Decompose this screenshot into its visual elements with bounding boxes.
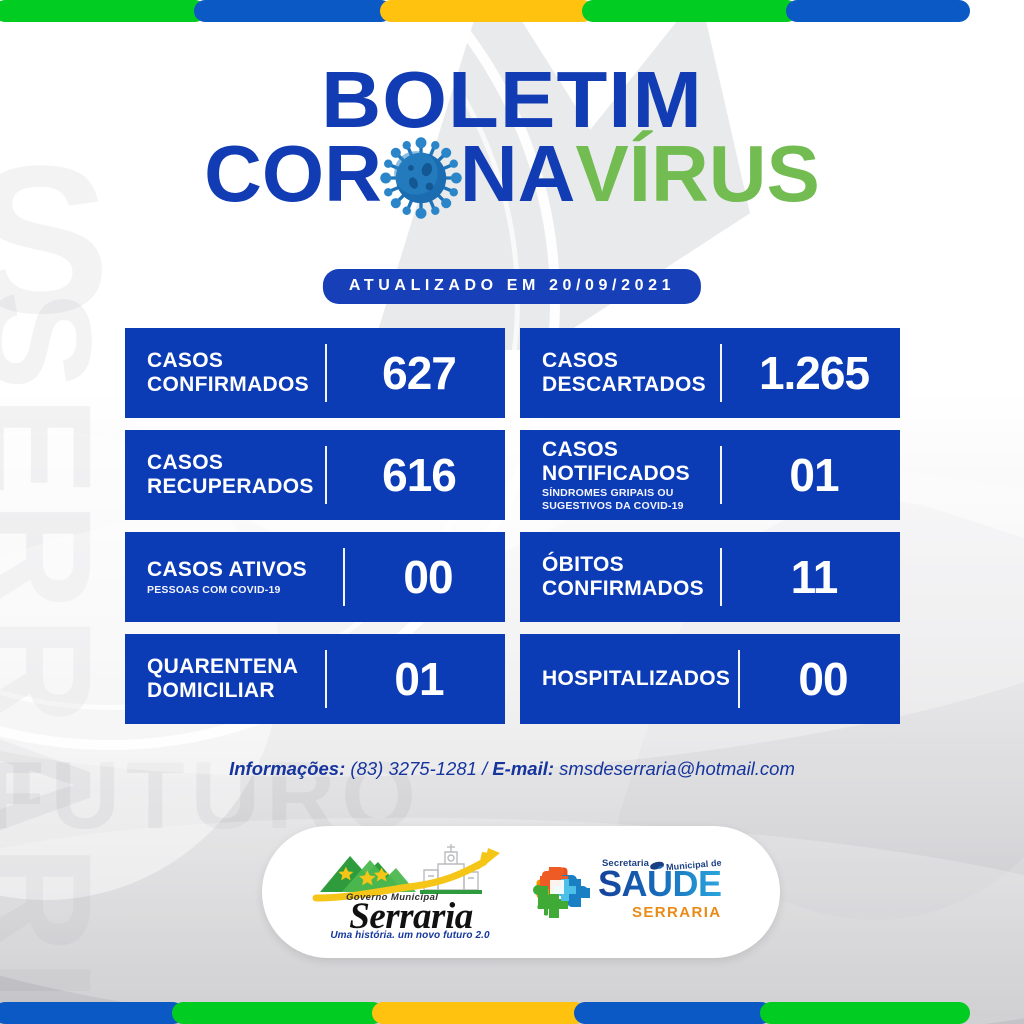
segment-yellow [372,1002,586,1024]
stat-label-line2: CONFIRMADOS [147,373,309,396]
stat-divider [720,548,722,606]
stat-divider [720,446,722,504]
contact-info-label: Informações: [229,758,345,779]
segment-blue-1 [194,0,392,22]
stats-grid: CASOSCONFIRMADOS627CASOSDESCARTADOS1.265… [125,328,900,724]
stat-label-line2: CONFIRMADOS [542,577,704,600]
segment-blue-2 [786,0,970,22]
stat-card-quarentena-domiciliar: QUARENTENADOMICILIAR01 [125,634,505,724]
stat-value: 00 [746,656,900,702]
stat-label: ÓBITOSCONFIRMADOS [542,553,720,600]
saude-city-label: SERRARIA [632,904,722,921]
contact-email[interactable]: smsdeserraria@hotmail.com [559,758,795,779]
stat-card-casos-descartados: CASOSDESCARTADOS1.265 [520,328,900,418]
segment-green-2 [760,1002,970,1024]
stat-label: CASOSRECUPERADOS [147,451,325,498]
segment-blue-1 [0,1002,184,1024]
top-color-bar [0,0,1024,22]
title-line-coronavirus: COR [0,132,1024,216]
bottom-color-bar [0,1002,1024,1024]
title-cor: COR [204,134,382,214]
footer-logo-plate: Governo Municipal Serraria Uma história.… [262,826,780,958]
segment-green-2 [582,0,798,22]
stat-label: QUARENTENADOMICILIAR [147,655,325,702]
serraria-tagline: Uma história. um novo futuro 2.0 [312,930,508,941]
health-cross-icon [530,861,592,923]
segment-green-1 [0,0,206,22]
stat-divider [738,650,740,708]
stat-sublabel: PESSOAS COM COVID-19 [147,584,343,596]
stat-card-hospitalizados: HOSPITALIZADOS00 [520,634,900,724]
serraria-mountains-church-logo: Governo Municipal Serraria Uma história.… [312,840,508,944]
coronavirus-icon [379,136,463,220]
stat-divider [325,650,327,708]
stat-label-line1: CASOS [542,438,618,461]
contact-separator: / [482,758,487,779]
stat-sublabel: SÍNDROMES GRIPAIS OUSUGESTIVOS DA COVID-… [542,487,720,512]
stat-value: 1.265 [728,350,900,396]
title-line-boletim: BOLETIM [0,62,1024,138]
stat-card-casos-ativos: CASOS ATIVOSPESSOAS COM COVID-1900 [125,532,505,622]
stat-value: 01 [728,452,900,498]
stat-label-line1: HOSPITALIZADOS [542,667,730,690]
stat-label-line2: NOTIFICADOS [542,462,690,485]
contact-phone[interactable]: (83) 3275-1281 [350,758,477,779]
stat-label-line1: CASOS [147,349,223,372]
bulletin-page: S SERRARIA FUTURO BOLETIM COR [0,0,1024,1024]
contact-email-label: E-mail: [492,758,554,779]
segment-blue-2 [574,1002,772,1024]
stat-value: 616 [333,452,505,498]
stat-card-casos-confirmados: CASOSCONFIRMADOS627 [125,328,505,418]
segment-green-1 [172,1002,384,1024]
stat-value: 11 [728,554,900,600]
page-title: BOLETIM COR [0,62,1024,216]
stat-label: HOSPITALIZADOS [542,667,738,691]
stat-label-line1: ÓBITOS [542,553,624,576]
stat-label-line1: QUARENTENA [147,655,298,678]
stat-label-line1: CASOS [147,451,223,474]
stat-value: 627 [333,350,505,396]
stat-label: CASOSNOTIFICADOSSÍNDROMES GRIPAIS OUSUGE… [542,438,720,512]
watermark-serraria-text: SERRARIA [0,290,103,1024]
stat-card-casos-notificados: CASOSNOTIFICADOSSÍNDROMES GRIPAIS OUSUGE… [520,430,900,520]
title-na: NA [460,134,576,214]
stat-label: CASOSDESCARTADOS [542,349,720,396]
stat-divider [325,344,327,402]
title-virus: VÍRUS [575,134,820,214]
updated-date-badge: ATUALIZADO EM 20/09/2021 [323,269,701,304]
stat-label-line1: CASOS [542,349,618,372]
stat-label-line2: RECUPERADOS [147,475,314,498]
stat-divider [720,344,722,402]
saude-main-title: SAÚDE [598,866,722,902]
stat-label: CASOS ATIVOSPESSOAS COM COVID-19 [147,558,343,596]
stat-card-obitos-confirmados: ÓBITOSCONFIRMADOS11 [520,532,900,622]
contact-line: Informações: (83) 3275-1281 / E-mail: sm… [0,758,1024,780]
stat-label-line1: CASOS ATIVOS [147,558,307,581]
stat-label-line2: DOMICILIAR [147,679,275,702]
stat-value: 01 [333,656,505,702]
stat-value: 00 [351,554,505,600]
segment-yellow [380,0,594,22]
stat-label-line2: DESCARTADOS [542,373,706,396]
health-secretariat-logo: Secretaria Municipal de SAÚDE SERRARIA [530,850,730,934]
stat-divider [343,548,345,606]
stat-label: CASOSCONFIRMADOS [147,349,325,396]
stat-card-casos-recuperados: CASOSRECUPERADOS616 [125,430,505,520]
stat-divider [325,446,327,504]
